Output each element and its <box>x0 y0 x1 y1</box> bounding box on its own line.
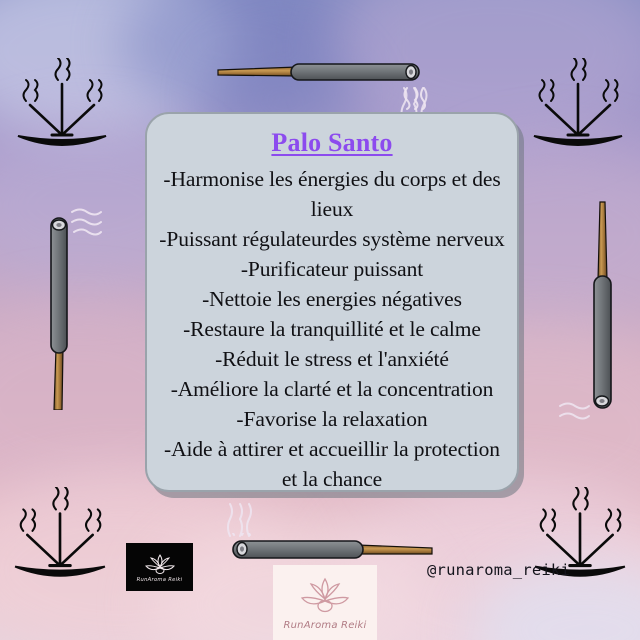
list-item: -Puissant régulateurdes système nerveux <box>155 224 509 254</box>
lotus-icon <box>143 552 177 576</box>
list-item: -Nettoie les energies négatives <box>155 284 509 314</box>
incense-burner-bottom-left <box>4 487 116 587</box>
list-item: -Aide à attirer et accueillir la protect… <box>155 434 509 494</box>
palo-santo-info-card: Palo Santo -Harmonise les énergies du co… <box>145 112 519 492</box>
list-item: -Réduit le stress et l'anxiété <box>155 344 509 374</box>
lotus-icon <box>297 575 353 617</box>
incense-smoke-right <box>556 396 602 442</box>
list-item: -Harmonise les énergies du corps et des … <box>155 164 509 224</box>
brand-name: RunAroma Reiki <box>137 577 183 583</box>
incense-stick-left <box>38 198 102 410</box>
incense-burner-top-left <box>8 58 116 156</box>
list-item: -Purificateur puissant <box>155 254 509 284</box>
incense-stick-right <box>582 198 638 413</box>
list-item: -Favorise la relaxation <box>155 404 509 434</box>
page-title: Palo Santo <box>271 128 392 158</box>
poster-canvas: Palo Santo -Harmonise les énergies du co… <box>0 0 640 640</box>
list-item: -Améliore la clarté et la concentration <box>155 374 509 404</box>
incense-smoke-bottom <box>222 500 256 538</box>
social-handle: @runaroma_reiki <box>427 561 570 579</box>
brand-name: RunAroma Reiki <box>284 620 367 631</box>
brand-logo-black: RunAroma Reiki <box>126 543 193 591</box>
brand-logo-cream: RunAroma Reiki <box>273 565 377 640</box>
incense-burner-top-right <box>524 58 632 156</box>
benefits-list: -Harmonise les énergies du corps et des … <box>155 164 509 494</box>
list-item: -Restaure la tranquillité et le calme <box>155 314 509 344</box>
